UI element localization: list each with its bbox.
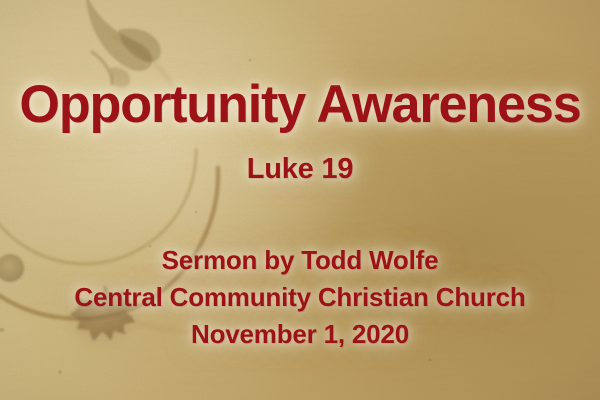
page-title: Opportunity Awareness	[5, 76, 596, 134]
sermon-date: November 1, 2020	[0, 319, 600, 350]
slide-text-layer: Opportunity Awareness Luke 19 Sermon by …	[0, 0, 600, 400]
sermon-title-slide: Opportunity Awareness Luke 19 Sermon by …	[0, 0, 600, 400]
speaker-credit: Sermon by Todd Wolfe	[0, 245, 600, 276]
church-name: Central Community Christian Church	[0, 282, 600, 313]
scripture-reference: Luke 19	[0, 152, 600, 186]
